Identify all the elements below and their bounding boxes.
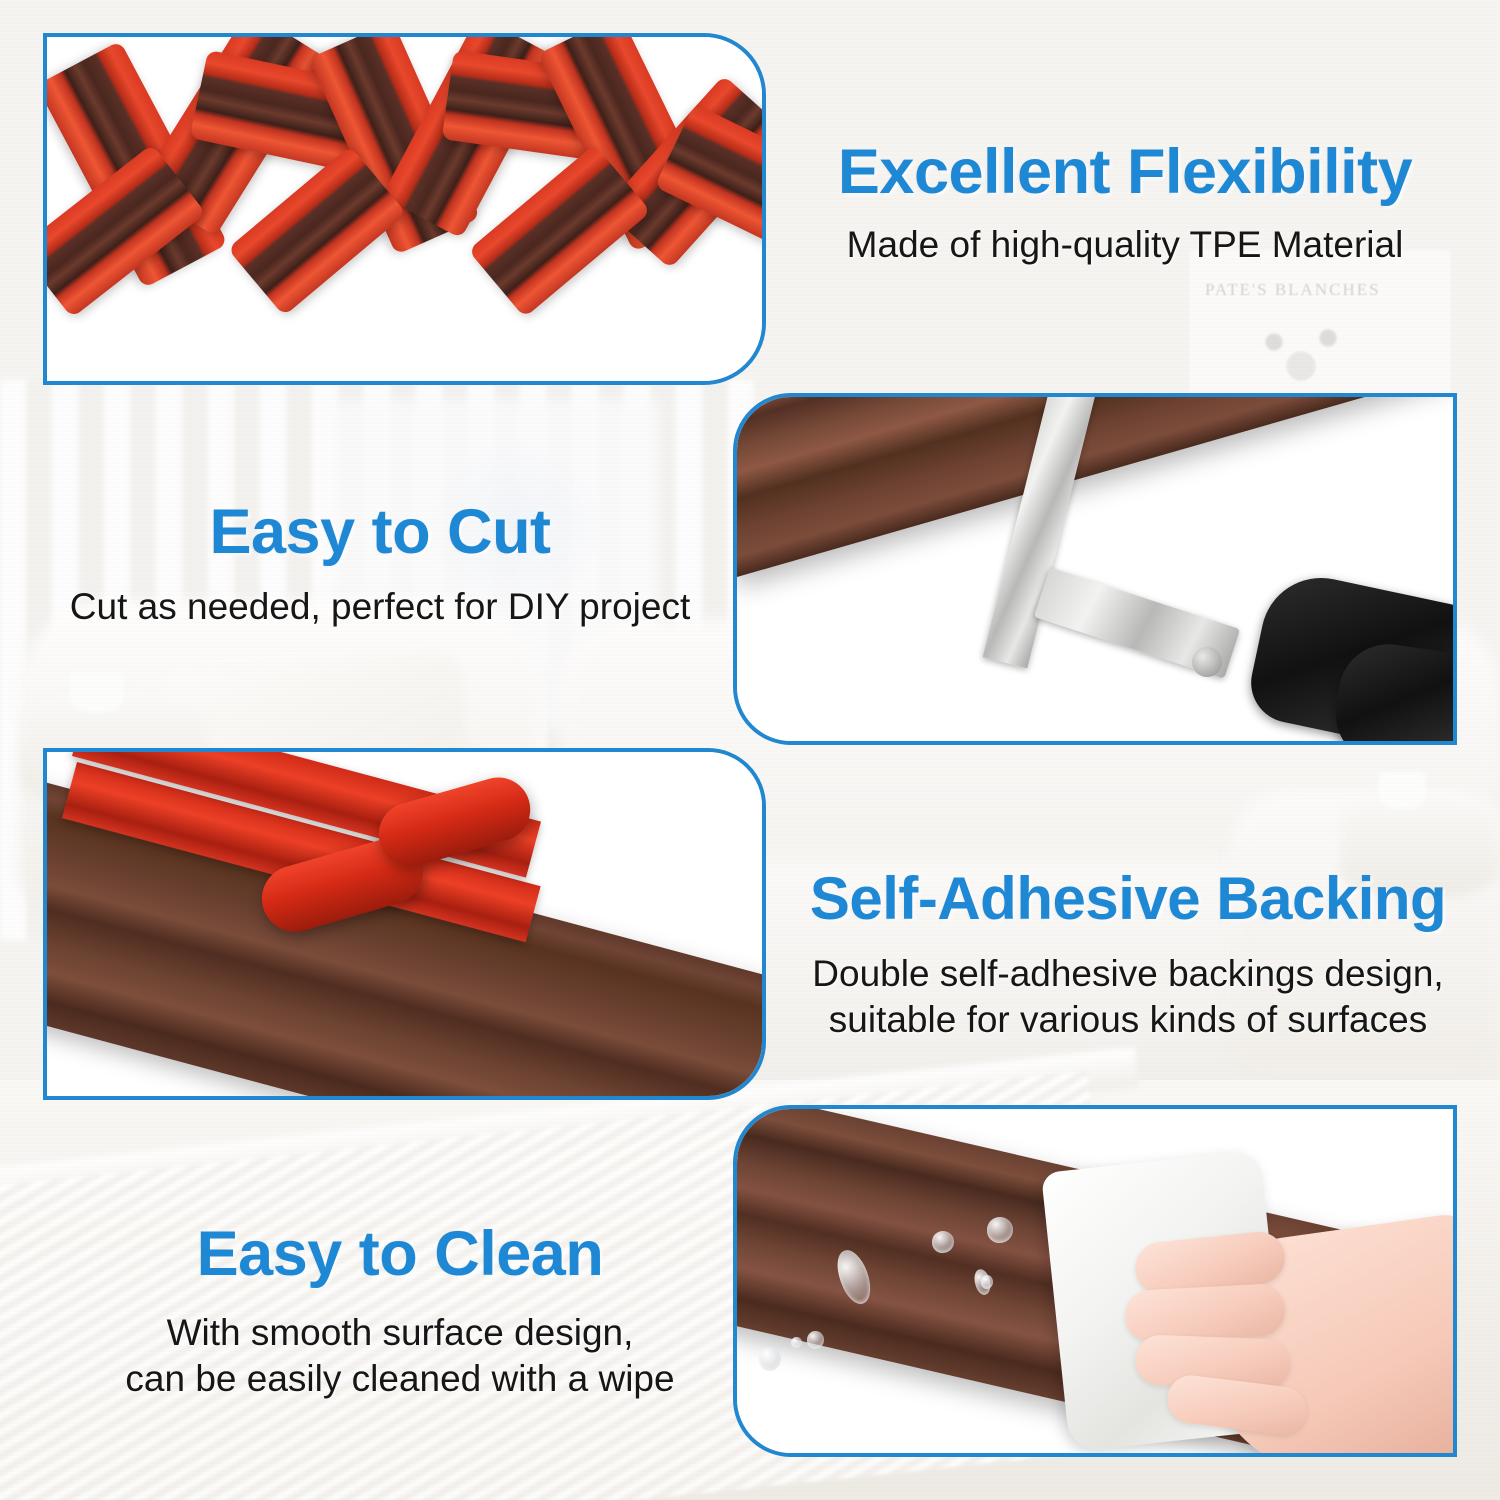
subtitle-clean-line-1: With smooth surface design, <box>60 1310 740 1356</box>
feature-text-cut: Easy to Cut Cut as needed, perfect for D… <box>30 500 730 630</box>
subtitle-clean: With smooth surface design, can be easil… <box>60 1310 740 1402</box>
scissor-pivot-screw <box>1192 647 1222 677</box>
wiping-photo <box>737 1109 1453 1453</box>
water-droplet <box>807 1331 824 1349</box>
water-droplet <box>791 1337 802 1348</box>
feature-image-adhesive <box>43 748 766 1100</box>
coiled-strip-photo <box>47 37 762 381</box>
subtitle-cut: Cut as needed, perfect for DIY project <box>30 584 730 630</box>
water-droplet <box>987 1217 1013 1243</box>
headline-adhesive: Self-Adhesive Backing <box>775 868 1481 929</box>
headline-flexibility: Excellent Flexibility <box>770 140 1480 204</box>
scissors-cutting-photo <box>737 397 1453 741</box>
headline-cut: Easy to Cut <box>30 500 730 564</box>
subtitle-adhesive: Double self-adhesive backings design, su… <box>775 951 1481 1043</box>
water-droplet <box>759 1347 781 1371</box>
subtitle-adhesive-line-2: suitable for various kinds of surfaces <box>775 997 1481 1043</box>
feature-image-flexibility <box>43 33 766 385</box>
water-droplet <box>932 1231 954 1253</box>
hand-finger <box>1124 1283 1287 1343</box>
weather-strip <box>737 397 1453 577</box>
feature-image-cut <box>733 393 1457 745</box>
subtitle-adhesive-line-1: Double self-adhesive backings design, <box>775 951 1481 997</box>
headline-clean: Easy to Clean <box>60 1222 740 1286</box>
feature-image-clean <box>733 1105 1457 1457</box>
feature-text-flexibility: Excellent Flexibility Made of high-quali… <box>770 140 1480 268</box>
feature-text-clean: Easy to Clean With smooth surface design… <box>60 1222 740 1402</box>
subtitle-clean-line-2: can be easily cleaned with a wipe <box>60 1356 740 1402</box>
feature-text-adhesive: Self-Adhesive Backing Double self-adhesi… <box>775 868 1481 1043</box>
water-droplet <box>981 1275 993 1289</box>
subtitle-flexibility: Made of high-quality TPE Material <box>770 222 1480 268</box>
adhesive-liner-photo <box>47 752 762 1096</box>
